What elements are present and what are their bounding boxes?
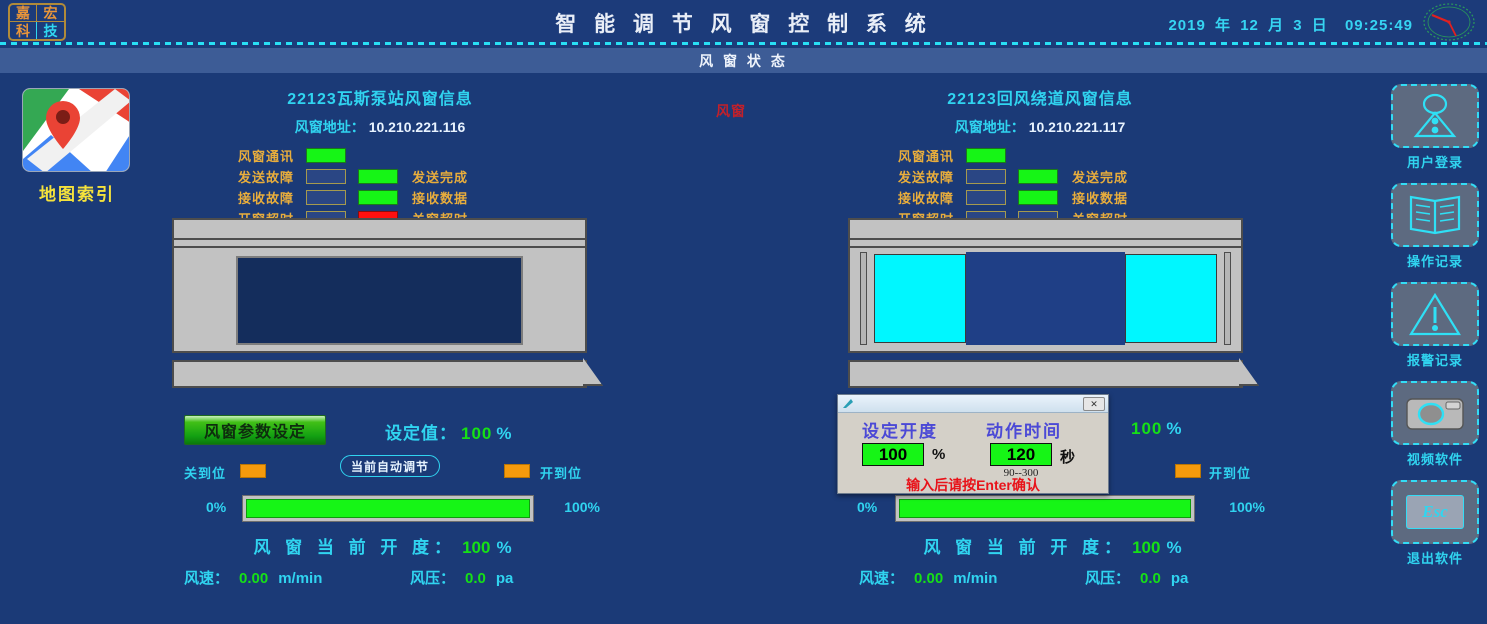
indicator-label: 接收故障: [880, 188, 954, 207]
open-position-label: 开到位: [540, 463, 582, 482]
analog-clock-icon: [1419, 2, 1479, 42]
air-pressure-value: 0.0: [465, 570, 486, 587]
indicator-lamp-send-fault: [306, 169, 346, 184]
current-opening-value: 100: [1132, 538, 1160, 557]
indicator-lamp-send-done: [358, 169, 398, 184]
station-panel-left: 22123瓦斯泵站风窗信息 风窗地址：10.210.221.116 风窗通讯 发…: [80, 85, 680, 229]
station-address-label: 风窗地址：: [955, 119, 1025, 135]
date-year: 2019: [1168, 17, 1205, 34]
station-address: 风窗地址：10.210.221.116: [80, 117, 680, 137]
station-address-label: 风窗地址：: [295, 119, 365, 135]
setpoint-display: 设定值：100%: [385, 419, 513, 444]
setpoint-unit: %: [496, 424, 512, 443]
indicator-lamp-send-fault: [966, 169, 1006, 184]
window-graphic-right: [848, 218, 1243, 388]
station-panel-right: 22123回风绕道风窗信息 风窗地址：10.210.221.117 风窗通讯 发…: [740, 85, 1340, 229]
setpoint-display: 100%: [1127, 419, 1183, 439]
air-speed-unit: m/min: [953, 570, 997, 587]
indicator-row: 接收故障 接收数据: [880, 187, 1200, 208]
window-center-gap: [966, 252, 1125, 345]
window-lintel: [848, 218, 1243, 240]
sidebar-item-operation-log[interactable]: 操作记录: [1389, 183, 1481, 270]
app-root: 嘉 宏 科 技 智 能 调 节 风 窗 控 制 系 统 2019 年 12 月 …: [0, 0, 1487, 624]
opening-progress-row: 0% 100%: [845, 495, 1265, 523]
air-speed-value: 0.00: [914, 570, 943, 587]
header-divider: [0, 42, 1487, 45]
window-graphic-left: [172, 218, 587, 388]
current-opening-row: 风 窗 当 前 开 度：100%: [845, 533, 1265, 558]
indicator-row: 发送故障 发送完成: [220, 166, 540, 187]
station-address-value: 10.210.221.116: [369, 119, 466, 135]
window-sill-wedge: [583, 358, 603, 386]
clock-time: 09:25:49: [1345, 17, 1413, 34]
date-day-unit: 日: [1312, 17, 1328, 34]
sidebar-item-label: 退出软件: [1389, 548, 1481, 567]
indicator-lamp-comm: [306, 148, 346, 163]
status-bar-label: 风 窗 状 态: [699, 51, 788, 71]
esc-key-icon[interactable]: Esc: [1406, 495, 1464, 529]
current-opening-label: 风 窗 当 前 开 度：: [923, 538, 1126, 557]
sidebar-item-label: 视频软件: [1389, 449, 1481, 468]
sidebar-item-exit-software[interactable]: Esc 退出软件: [1389, 480, 1481, 567]
indicator-label2: 接收数据: [412, 188, 468, 207]
sidebar-button[interactable]: [1391, 381, 1479, 445]
setpoint-value: 100: [461, 424, 492, 443]
open-position-label: 开到位: [1209, 463, 1251, 482]
indicator-row: 风窗通讯: [880, 145, 1200, 166]
set-opening-input[interactable]: 100: [862, 443, 924, 466]
set-parameters-button[interactable]: 风窗参数设定: [184, 415, 326, 445]
current-opening-unit: %: [1166, 538, 1186, 557]
sidebar-item-video-software[interactable]: 视频软件: [1389, 381, 1481, 468]
progress-min-label: 0%: [206, 499, 226, 515]
close-position-label: 关到位: [184, 463, 226, 482]
air-pressure-readout: 风压：0.0pa: [1085, 567, 1188, 588]
window-leaf-left: [874, 254, 966, 343]
sidebar-item-user-login[interactable]: 用户登录: [1389, 84, 1481, 171]
action-time-input[interactable]: 120: [990, 443, 1052, 466]
sidebar-item-alarm-log[interactable]: 报警记录: [1389, 282, 1481, 369]
current-opening-unit: %: [496, 538, 516, 557]
indicator-table: 风窗通讯 发送故障 发送完成 接收故障 接收数据 开窗超时 关窗超时: [220, 145, 540, 229]
current-opening-row: 风 窗 当 前 开 度：100%: [170, 533, 600, 558]
window-opening-closed: [236, 256, 523, 345]
air-pressure-unit: pa: [496, 570, 514, 587]
set-opening-label: 设定开度: [862, 417, 938, 442]
mode-chip-auto[interactable]: 当前自动调节: [340, 455, 440, 477]
sidebar-item-label: 操作记录: [1389, 251, 1481, 270]
sidebar-button[interactable]: [1391, 183, 1479, 247]
air-speed-unit: m/min: [278, 570, 322, 587]
progress-max-label: 100%: [1229, 499, 1265, 515]
sidebar-button[interactable]: Esc: [1391, 480, 1479, 544]
set-opening-unit: %: [932, 446, 945, 463]
action-time-label: 动作时间: [986, 417, 1062, 442]
parameter-dialog: ✕ 设定开度 动作时间 100 % 120 秒 90--300 输入后请按Ent…: [837, 394, 1109, 494]
air-pressure-unit: pa: [1171, 570, 1189, 587]
indicator-label2: 发送完成: [1072, 167, 1128, 186]
air-speed-label: 风速：: [184, 570, 229, 587]
open-position-lamp: [1175, 464, 1201, 478]
measurement-row: 风速：0.00m/min 风压：0.0pa: [170, 567, 600, 589]
progress-bar-fill: [899, 499, 1191, 518]
setpoint-unit: %: [1166, 419, 1182, 438]
progress-bar-fill: [246, 499, 530, 518]
progress-min-label: 0%: [857, 499, 877, 515]
sidebar-button[interactable]: [1391, 282, 1479, 346]
current-opening-label: 风 窗 当 前 开 度：: [253, 538, 456, 557]
indicator-label2: 接收数据: [1072, 188, 1128, 207]
station-title: 22123瓦斯泵站风窗信息: [80, 85, 680, 109]
air-pressure-label: 风压：: [410, 570, 455, 587]
window-post-right: [1224, 252, 1231, 345]
window-body: [848, 248, 1243, 353]
indicator-lamp-recv-data: [1018, 190, 1058, 205]
indicator-label: 发送故障: [880, 167, 954, 186]
sidebar-button[interactable]: [1391, 84, 1479, 148]
dialog-title-bar[interactable]: ✕: [838, 395, 1108, 413]
progress-bar[interactable]: [895, 495, 1195, 522]
setpoint-value: 100: [1131, 419, 1162, 438]
indicator-lamp-recv-fault: [306, 190, 346, 205]
indicator-label: 风窗通讯: [880, 146, 954, 165]
sidebar: 用户登录 操作记录: [1389, 84, 1481, 579]
indicator-lamp-comm: [966, 148, 1006, 163]
window-sill: [848, 360, 1243, 388]
air-pressure-label: 风压：: [1085, 570, 1130, 587]
indicator-label: 发送故障: [220, 167, 294, 186]
header: 嘉 宏 科 技 智 能 调 节 风 窗 控 制 系 统 2019 年 12 月 …: [0, 0, 1487, 44]
warning-triangle-icon: [1407, 291, 1463, 337]
date-month-unit: 月: [1268, 17, 1284, 34]
air-pressure-readout: 风压：0.0pa: [410, 567, 513, 588]
user-icon: [1408, 93, 1462, 139]
close-position-lamp: [240, 464, 266, 478]
indicator-row: 发送故障 发送完成: [880, 166, 1200, 187]
air-speed-readout: 风速：0.00m/min: [859, 567, 997, 588]
air-speed-label: 风速：: [859, 570, 904, 587]
book-icon: [1407, 193, 1463, 237]
setpoint-label: 设定值：: [385, 424, 457, 443]
close-icon[interactable]: ✕: [1083, 397, 1105, 411]
action-time-unit: 秒: [1060, 446, 1075, 467]
app-glyph-icon: [842, 398, 855, 410]
current-opening-value: 100: [462, 538, 490, 557]
date-year-unit: 年: [1215, 17, 1231, 34]
progress-max-label: 100%: [564, 499, 600, 515]
window-post-left: [860, 252, 867, 345]
date-day: 3: [1293, 17, 1302, 34]
window-sill-wedge: [1239, 358, 1259, 386]
air-pressure-value: 0.0: [1140, 570, 1161, 587]
air-speed-value: 0.00: [239, 570, 268, 587]
station-title: 22123回风绕道风窗信息: [740, 85, 1340, 109]
window-sill: [172, 360, 587, 388]
datetime-display: 2019 年 12 月 3 日 09:25:49: [1166, 14, 1415, 35]
dialog-body: 设定开度 动作时间 100 % 120 秒 90--300 输入后请按Enter…: [838, 413, 1108, 494]
dialog-hint-text: 输入后请按Enter确认: [838, 475, 1108, 495]
measurement-row: 风速：0.00m/min 风压：0.0pa: [845, 567, 1265, 589]
indicator-row: 接收故障 接收数据: [220, 187, 540, 208]
window-lintel: [172, 218, 587, 240]
window-body: [172, 248, 587, 353]
date-month: 12: [1240, 17, 1259, 34]
indicator-label2: 发送完成: [412, 167, 468, 186]
indicator-label: 风窗通讯: [220, 146, 294, 165]
progress-bar[interactable]: [242, 495, 534, 522]
station-address-value: 10.210.221.117: [1029, 119, 1126, 135]
station-address: 风窗地址：10.210.221.117: [740, 117, 1340, 137]
indicator-lamp-send-done: [1018, 169, 1058, 184]
opening-progress-row: 0% 100%: [170, 495, 600, 523]
indicator-lamp-recv-data: [358, 190, 398, 205]
window-lintel-secondary: [172, 240, 587, 248]
camera-icon: [1404, 392, 1466, 434]
indicator-label: 接收故障: [220, 188, 294, 207]
indicator-lamp-recv-fault: [966, 190, 1006, 205]
window-leaf-right: [1125, 254, 1217, 343]
air-speed-readout: 风速：0.00m/min: [184, 567, 322, 588]
indicator-row: 风窗通讯: [220, 145, 540, 166]
window-lintel-secondary: [848, 240, 1243, 248]
open-position-lamp: [504, 464, 530, 478]
sidebar-item-label: 报警记录: [1389, 350, 1481, 369]
status-bar: 风 窗 状 态: [0, 48, 1487, 73]
sidebar-item-label: 用户登录: [1389, 152, 1481, 171]
indicator-table: 风窗通讯 发送故障 发送完成 接收故障 接收数据 开窗超时 关窗超时: [880, 145, 1200, 229]
